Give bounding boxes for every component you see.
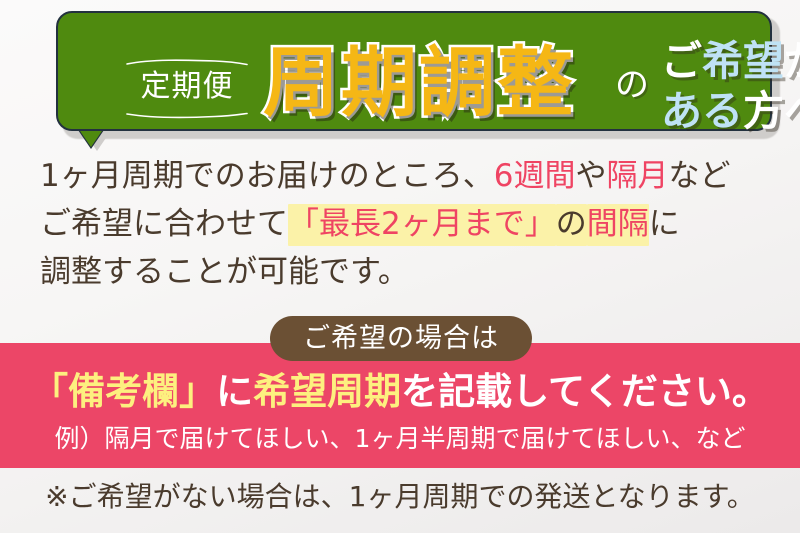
wish-line-1: ご希望が xyxy=(661,36,800,86)
subscription-label-text: 定期便 xyxy=(122,70,252,104)
banner-title: 周期調整 xyxy=(263,31,575,135)
description-line-3: 調整することが可能です。 xyxy=(40,248,780,296)
instruction-band: 「備考欄」に希望周期を記載してください。 例）隔月で届けてほしい、1ヶ月半周期で… xyxy=(0,343,800,468)
desc-l2-c: の xyxy=(556,204,587,246)
banner-title-particle: の xyxy=(615,65,649,105)
wish-line1-part1: ご xyxy=(661,37,702,85)
desc-l1-a: 1ヶ月周期でのお届けのところ、 xyxy=(40,158,494,194)
description-line-1: 1ヶ月周期でのお届けのところ、6週間や隔月など xyxy=(40,152,780,200)
desc-l1-d: 隔月 xyxy=(606,158,668,194)
wavy-rule-bottom-icon xyxy=(125,112,249,119)
desc-l2-b: 「最長2ヶ月まで」 xyxy=(288,204,556,246)
header-banner: 定期便 周期調整 の ご希望が ある方へ xyxy=(0,0,800,150)
instruction-part-c: 希望周期 xyxy=(253,370,401,413)
instruction-example: 例）隔月で届けてほしい、1ヶ月半周期で届けてほしい、など xyxy=(0,423,800,455)
instruction-part-d: を記載してください。 xyxy=(401,370,769,413)
wish-line1-part3: が xyxy=(784,37,800,85)
instruction-headline: 「備考欄」に希望周期を記載してください。 xyxy=(0,369,800,415)
wish-line2-part1: ある xyxy=(661,87,743,135)
wish-line2-part2: 方へ xyxy=(743,87,800,135)
desc-l1-e: など xyxy=(668,158,730,194)
desc-l2-e: に xyxy=(649,206,680,242)
footer-note: ※ご希望がない場合は、1ヶ月周期での発送となります。 xyxy=(0,478,800,516)
wavy-rule-top-icon xyxy=(125,59,249,66)
description-paragraph: 1ヶ月周期でのお届けのところ、6週間や隔月など ご希望に合わせて「最長2ヶ月まで… xyxy=(40,152,780,296)
instruction-part-a: 「備考欄」 xyxy=(31,370,216,413)
desc-l2-a: ご希望に合わせて xyxy=(40,206,288,242)
wish-target-text: ご希望が ある方へ xyxy=(661,36,800,136)
wish-line1-part2: 希望 xyxy=(702,37,784,85)
status-badge: ご希望の場合は xyxy=(270,316,532,361)
banner-body: 定期便 周期調整 の ご希望が ある方へ xyxy=(56,11,772,131)
description-line-2: ご希望に合わせて「最長2ヶ月まで」の間隔に xyxy=(40,200,780,248)
desc-l1-b: 6週間 xyxy=(494,158,576,194)
wish-line-2: ある方へ xyxy=(661,86,800,136)
desc-l1-c: や xyxy=(575,158,606,194)
instruction-part-b: に xyxy=(216,370,253,413)
subscription-label-block: 定期便 xyxy=(122,51,252,123)
desc-l2-d: 間隔 xyxy=(587,204,649,246)
